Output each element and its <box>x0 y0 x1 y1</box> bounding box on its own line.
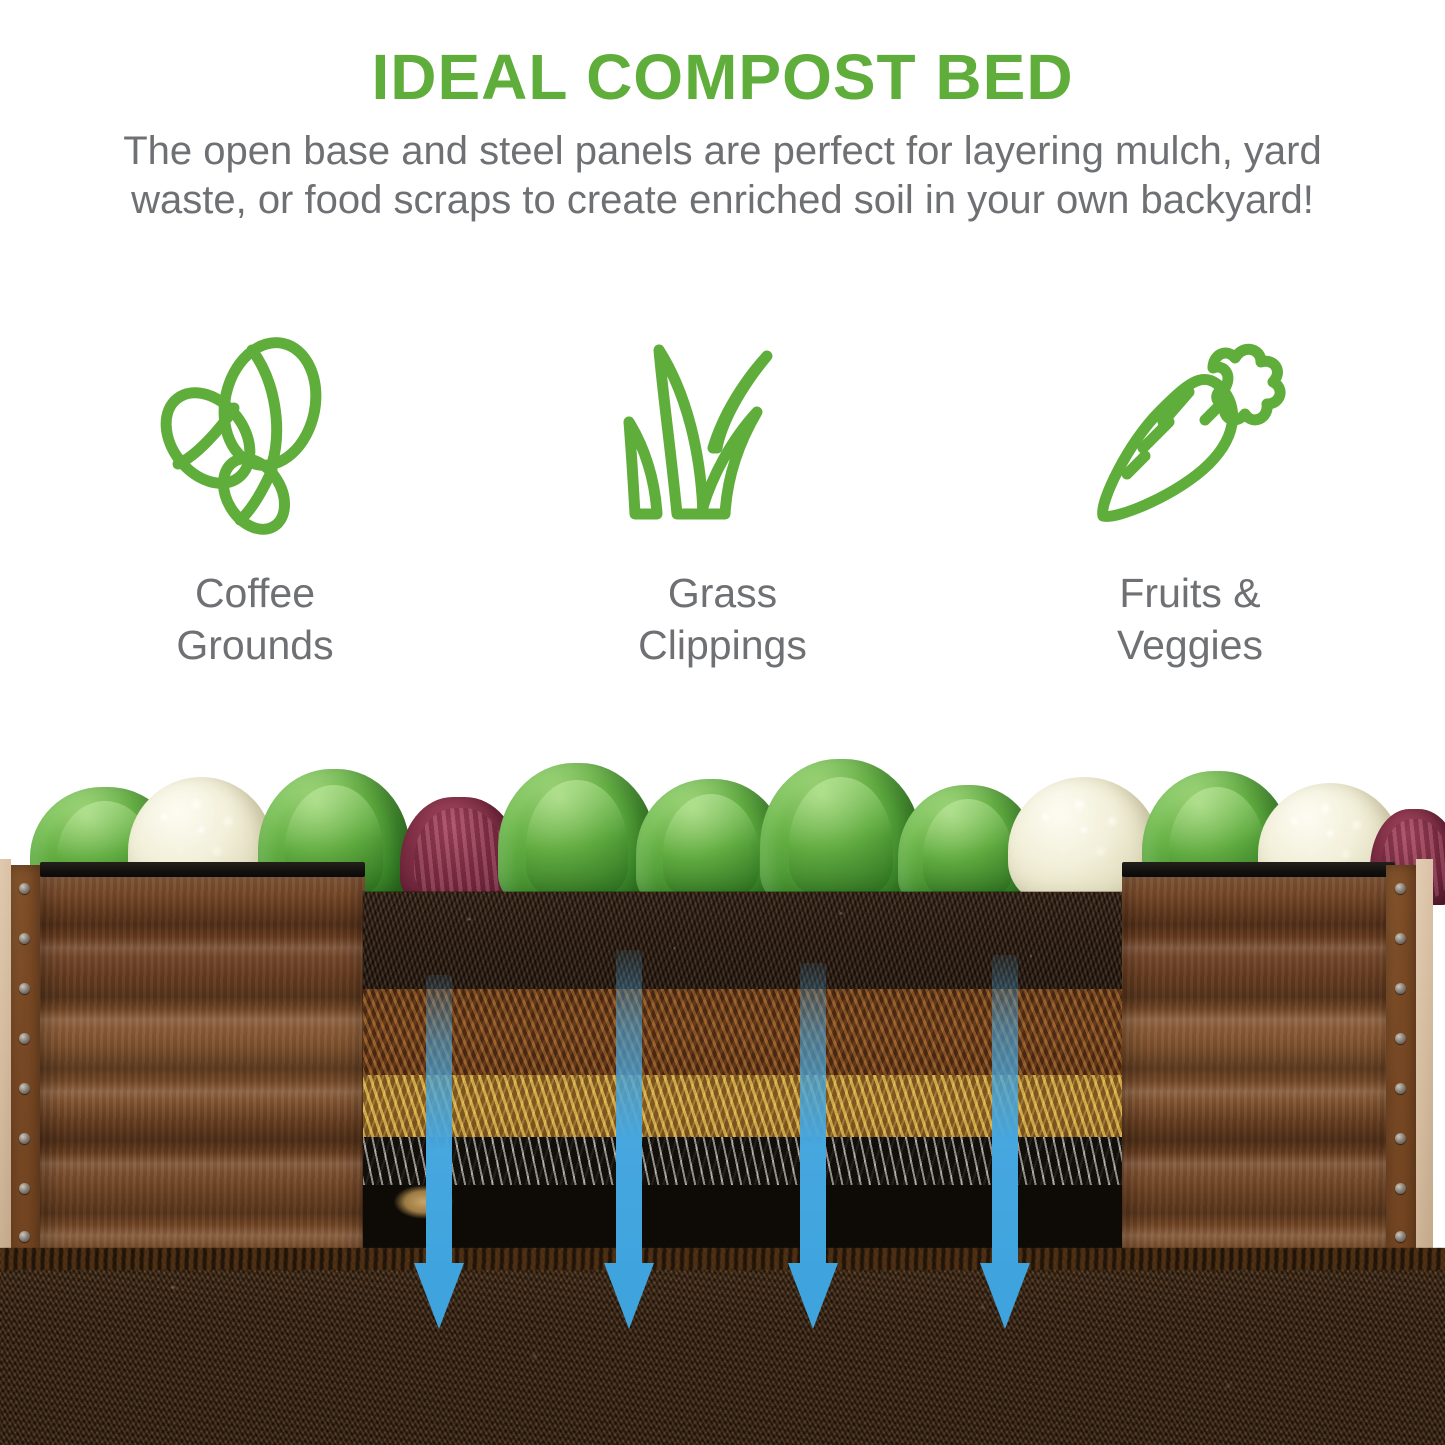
post-edge <box>1416 859 1433 1254</box>
post-rivets <box>10 865 40 1260</box>
bed-corner-post-right <box>1386 865 1416 1260</box>
bed-panel-right <box>1122 875 1395 1250</box>
vegetable-cabbage <box>498 763 656 905</box>
feature-item-coffee-grounds: Coffee Grounds <box>95 330 415 672</box>
feature-list: Coffee Grounds Grass Clippings <box>0 330 1445 672</box>
ground-soil <box>0 1248 1445 1445</box>
feature-label-coffee-grounds: Coffee Grounds <box>176 567 333 672</box>
feature-label-grass-clippings: Grass Clippings <box>638 567 807 672</box>
grass-blades-icon <box>615 330 830 545</box>
bed-rim-right <box>1122 862 1395 877</box>
feature-label-fruits-veggies: Fruits & Veggies <box>1117 567 1263 672</box>
coffee-beans-icon <box>148 330 363 545</box>
infographic-canvas: IDEAL COMPOST BED The open base and stee… <box>0 0 1445 1445</box>
post-rivets <box>1386 865 1416 1260</box>
feature-item-grass-clippings: Grass Clippings <box>563 330 883 672</box>
bed-panel-left <box>40 875 365 1250</box>
carrot-icon <box>1083 330 1298 545</box>
feature-item-fruits-veggies: Fruits & Veggies <box>1030 330 1350 672</box>
bed-rim-left <box>40 862 365 877</box>
bed-corner-post-left <box>10 865 40 1260</box>
page-title: IDEAL COMPOST BED <box>0 0 1445 111</box>
product-scene <box>0 745 1445 1445</box>
page-subtitle: The open base and steel panels are perfe… <box>115 127 1330 225</box>
header: IDEAL COMPOST BED The open base and stee… <box>0 0 1445 225</box>
